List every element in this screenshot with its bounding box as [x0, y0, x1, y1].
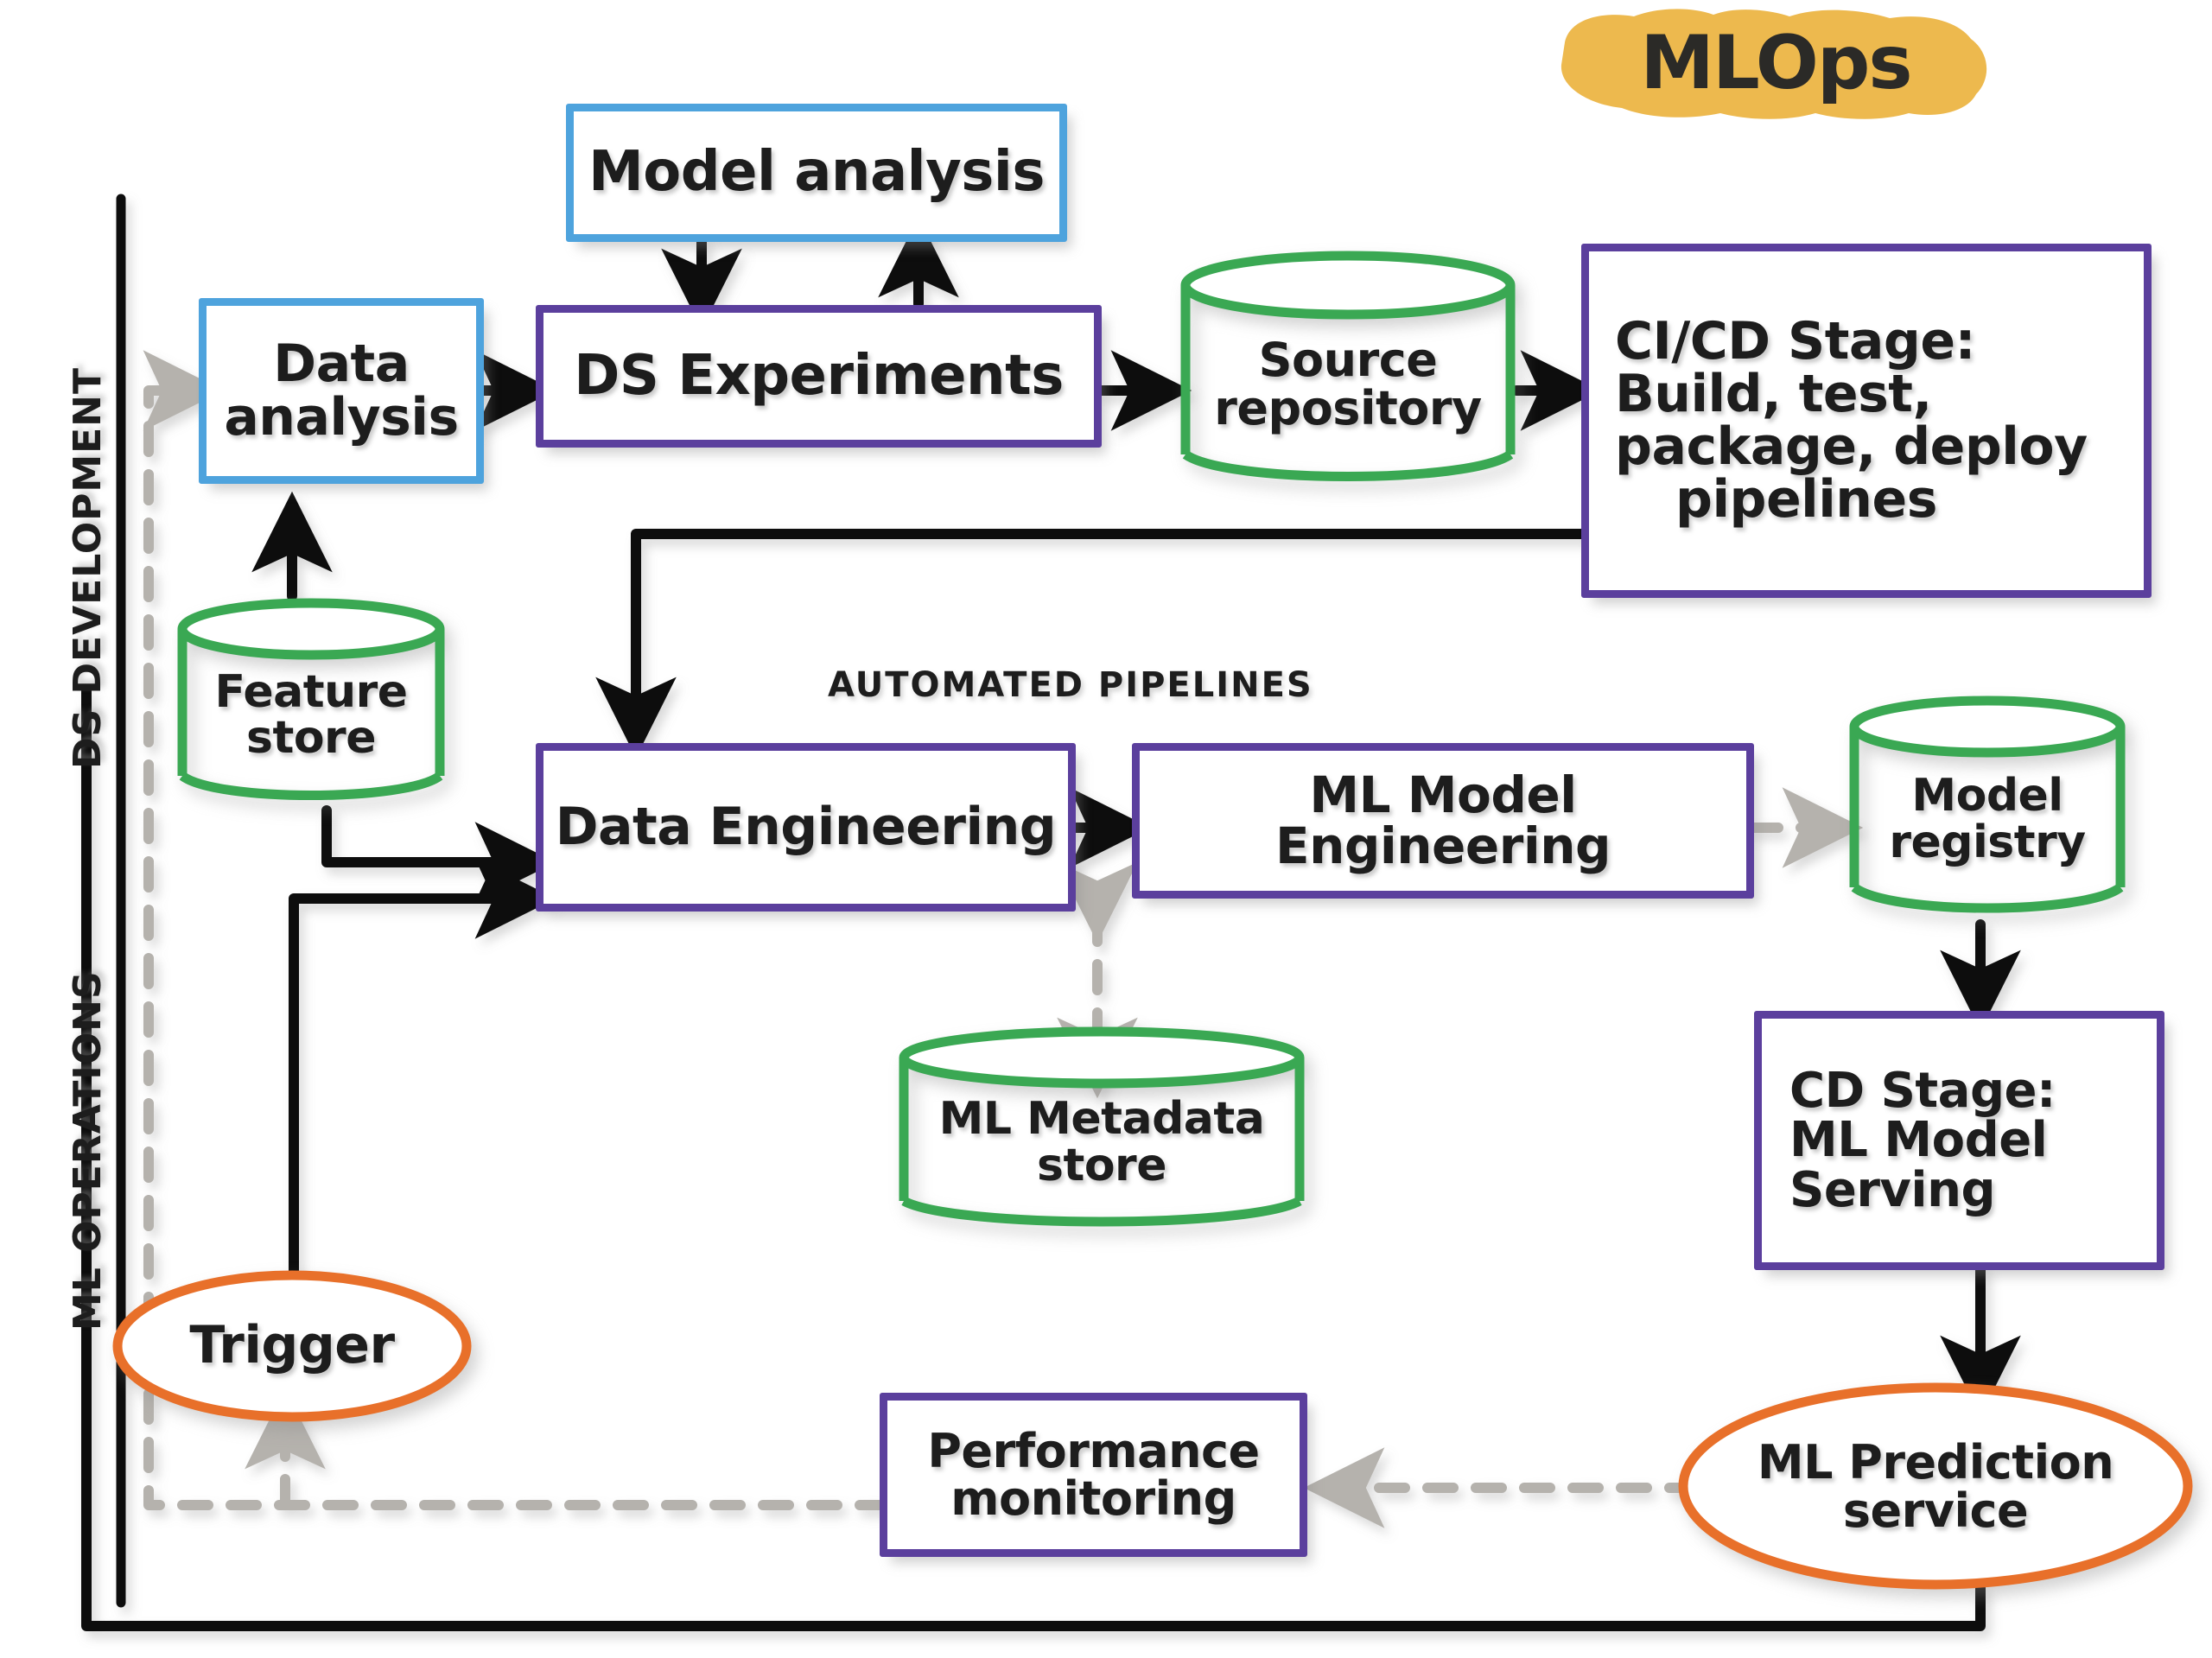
node-data-analysis[interactable]: Data analysis [199, 298, 484, 484]
node-label: Trigger [189, 1319, 394, 1372]
node-cd-stage[interactable]: CD Stage: ML Model Serving [1754, 1011, 2164, 1270]
node-model-registry[interactable]: Model registry [1845, 696, 2130, 924]
node-label: ML Prediction [1758, 1439, 2113, 1486]
node-label: DS Experiments [574, 348, 1064, 404]
node-label: package, deploy [1615, 421, 2088, 473]
swimlane-label-ml-operations: ML OPERATIONS [66, 970, 110, 1331]
node-label: store [246, 715, 376, 761]
automated-pipelines-label: AUTOMATED PIPELINES [828, 665, 1313, 705]
node-label: repository [1214, 384, 1481, 432]
node-label: Data Engineering [556, 801, 1057, 854]
node-label: service [1843, 1487, 2028, 1534]
mlops-diagram-canvas: MLOps DS DEVELOPMENT ML OPERATIONS AUTOM… [0, 0, 2212, 1658]
node-cicd-stage[interactable]: CI/CD Stage: Build, test, package, deplo… [1581, 244, 2152, 598]
node-source-repository[interactable]: Source repository [1175, 249, 1521, 495]
node-label: pipelines [1675, 473, 1937, 526]
node-model-analysis[interactable]: Model analysis [566, 104, 1067, 242]
node-label: ML Metadata [939, 1096, 1265, 1142]
node-trigger[interactable]: Trigger [111, 1268, 474, 1424]
title-badge: MLOps [1551, 4, 2000, 121]
node-label: registry [1889, 820, 2085, 866]
node-ml-metadata-store[interactable]: ML Metadata store [894, 1026, 1309, 1238]
node-label: Serving [1789, 1166, 1995, 1215]
node-label: Source [1259, 336, 1438, 384]
node-ml-prediction-service[interactable]: ML Prediction service [1676, 1381, 2195, 1592]
swimlane-label-ds-development: DS DEVELOPMENT [66, 367, 110, 769]
node-label: store [1037, 1143, 1166, 1189]
node-label: ML Model [1789, 1115, 2047, 1165]
node-ds-experiments[interactable]: DS Experiments [536, 305, 1102, 448]
node-label: ML Model Engineering [1140, 770, 1746, 872]
node-label: Performance [927, 1427, 1259, 1475]
node-feature-store[interactable]: Feature store [173, 596, 449, 812]
node-label: CI/CD Stage: [1615, 315, 1975, 368]
node-label: monitoring [950, 1475, 1236, 1522]
page-title: MLOps [1551, 4, 2000, 121]
node-label: CD Stage: [1789, 1066, 2056, 1115]
node-label: Model analysis [588, 144, 1045, 200]
node-label: Feature [214, 670, 407, 715]
node-label: Build, test, [1615, 368, 1932, 421]
node-ml-model-engineering[interactable]: ML Model Engineering [1132, 743, 1754, 899]
node-data-engineering[interactable]: Data Engineering [536, 743, 1076, 912]
node-performance-monitoring[interactable]: Performance monitoring [880, 1393, 1307, 1557]
node-label: Model [1911, 773, 2063, 819]
node-label: analysis [224, 391, 458, 444]
node-label: Data [273, 338, 409, 391]
